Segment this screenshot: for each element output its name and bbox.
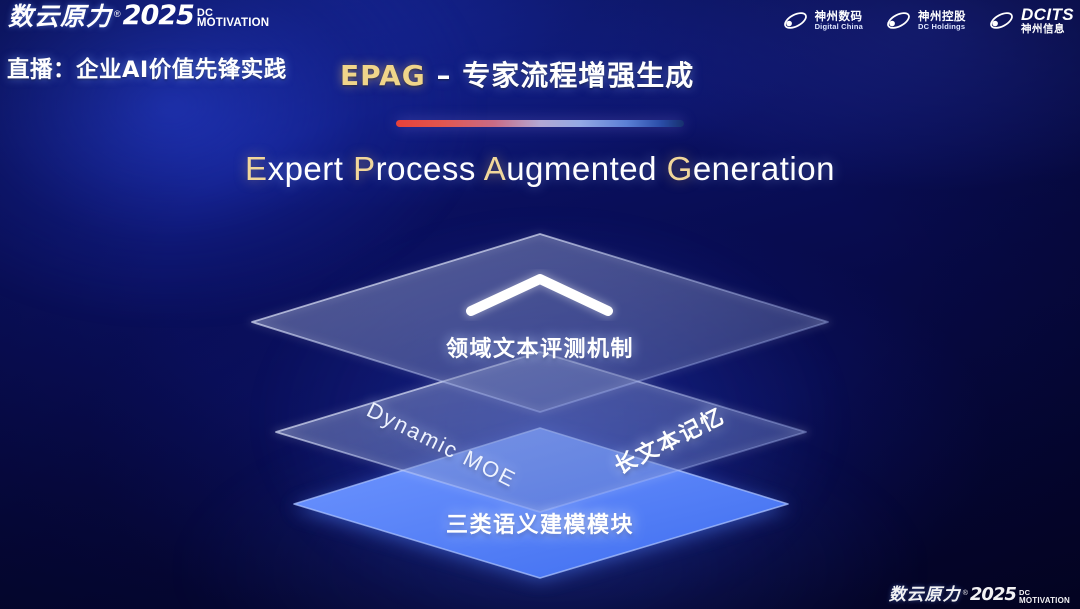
swirl-logo-icon (885, 10, 912, 31)
sponsor-name-en: DC Holdings (918, 23, 966, 31)
swirl-logo-icon (782, 10, 809, 31)
event-logo-dc-motivation: DC MOTIVATION (197, 8, 269, 29)
title-divider (396, 120, 684, 127)
subtitle-rest-expert: xpert (268, 150, 344, 187)
live-stream-title: 直播：企业AI价值先锋实践 (7, 52, 287, 84)
sponsor-dcits: DCITS 神州信息 (988, 6, 1074, 35)
subtitle-cap-g: G (667, 150, 693, 187)
event-logo-cn: 数云原力 (8, 4, 112, 29)
footer-event-logo: 数云原力 ® 2025 DC MOTIVATION (889, 586, 1070, 604)
subtitle-rest-generation: eneration (693, 150, 835, 187)
registered-mark-icon: ® (963, 590, 968, 597)
swirl-logo-icon (988, 10, 1015, 31)
sponsor-name-en: Digital China (815, 23, 863, 31)
event-logo: 数云原力 ® 2025 DC MOTIVATION (8, 2, 269, 29)
subtitle-rest-process: rocess (376, 150, 476, 187)
stack-label-bottom: 三类语义建模模块 (0, 507, 1080, 539)
event-logo-motivation: MOTIVATION (197, 18, 269, 29)
stack-layer-top (252, 234, 828, 412)
page-title: EPAG – 专家流程增强生成 (340, 54, 694, 94)
sponsor-name-cn: 神州控股 (918, 10, 966, 22)
footer-logo-year: 2025 (970, 586, 1016, 604)
registered-mark-icon: ® (114, 9, 121, 19)
footer-logo-dc-motivation: DC MOTIVATION (1019, 590, 1070, 604)
event-logo-year: 2025 (123, 2, 194, 29)
stack-label-top: 领域文本评测机制 (0, 331, 1080, 363)
subtitle-cap-e: E (245, 150, 268, 187)
sponsor-dc-holdings: 神州控股 DC Holdings (885, 10, 966, 31)
footer-logo-cn: 数云原力 (889, 587, 961, 604)
subtitle-cap-a: A (484, 150, 507, 187)
sponsor-name-cn: 神州数码 (815, 10, 863, 22)
sponsor-name-en: DCITS (1021, 6, 1074, 24)
sponsor-logos: 神州数码 Digital China 神州控股 DC Holdings DCIT… (782, 6, 1074, 35)
page-title-dash: – (426, 59, 463, 92)
sponsor-name-cn: 神州信息 (1021, 24, 1074, 35)
subtitle-cap-p: P (353, 150, 376, 187)
footer-logo-motivation: MOTIVATION (1019, 597, 1070, 604)
page-subtitle: Expert Process Augmented Generation (0, 150, 1080, 188)
page-title-chinese: 专家流程增强生成 (462, 59, 694, 92)
subtitle-rest-augmented: ugmented (506, 150, 657, 187)
page-title-acronym: EPAG (340, 59, 426, 92)
sponsor-digital-china: 神州数码 Digital China (782, 10, 863, 31)
